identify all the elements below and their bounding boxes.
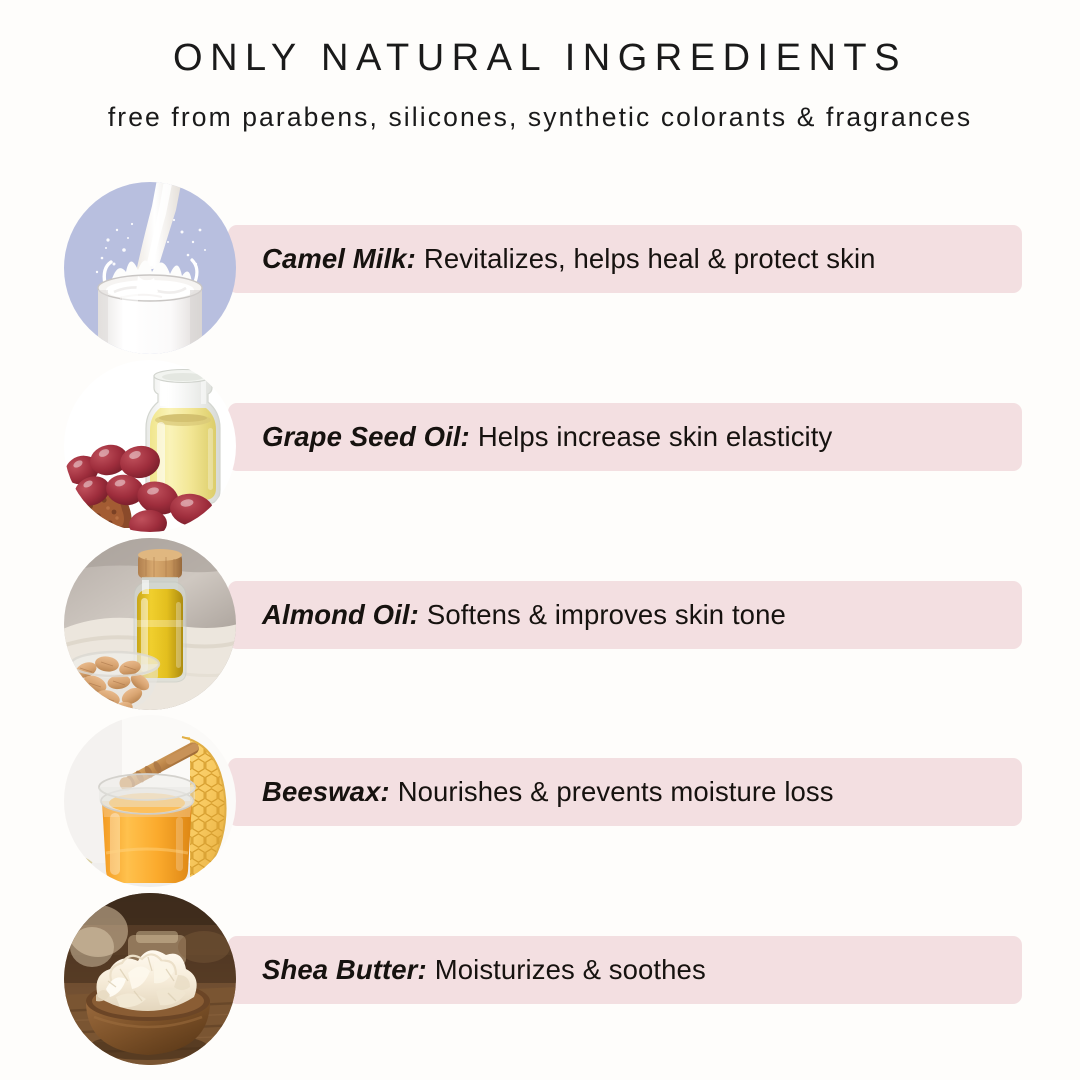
almond-oil-icon xyxy=(62,536,238,712)
milk-pour-jar-icon xyxy=(62,180,238,356)
ingredient-name: Grape Seed Oil: xyxy=(262,421,470,453)
honey-jar-honeycomb-icon xyxy=(62,713,238,889)
ingredient-row: Grape Seed Oil: Helps increase skin elas… xyxy=(0,358,1080,536)
ingredient-benefit: Revitalizes, helps heal & protect skin xyxy=(424,243,876,275)
header: ONLY NATURAL INGREDIENTS free from parab… xyxy=(0,0,1080,136)
ingredient-benefit: Nourishes & prevents moisture loss xyxy=(398,776,834,808)
ingredient-text: Beeswax: Nourishes & prevents moisture l… xyxy=(262,758,834,826)
ingredient-benefit: Helps increase skin elasticity xyxy=(478,421,833,453)
ingredient-name: Beeswax: xyxy=(262,776,390,808)
ingredients-infographic: ONLY NATURAL INGREDIENTS free from parab… xyxy=(0,0,1080,1080)
ingredient-text: Camel Milk: Revitalizes, helps heal & pr… xyxy=(262,225,876,293)
ingredient-text: Almond Oil: Softens & improves skin tone xyxy=(262,581,786,649)
ingredient-row: Shea Butter: Moisturizes & soothes xyxy=(0,891,1080,1069)
ingredient-row: Camel Milk: Revitalizes, helps heal & pr… xyxy=(0,180,1080,358)
page-subtitle: free from parabens, silicones, synthetic… xyxy=(90,80,990,137)
ingredient-row: Beeswax: Nourishes & prevents moisture l… xyxy=(0,713,1080,891)
ingredient-name: Camel Milk: xyxy=(262,243,416,275)
ingredient-row: Almond Oil: Softens & improves skin tone xyxy=(0,536,1080,714)
ingredient-text: Grape Seed Oil: Helps increase skin elas… xyxy=(262,403,832,471)
ingredient-benefit: Softens & improves skin tone xyxy=(427,599,786,631)
ingredient-text: Shea Butter: Moisturizes & soothes xyxy=(262,936,706,1004)
grape-seed-oil-icon xyxy=(62,358,238,534)
ingredient-benefit: Moisturizes & soothes xyxy=(435,954,706,986)
page-title: ONLY NATURAL INGREDIENTS xyxy=(0,0,1080,80)
shea-butter-bowl-icon xyxy=(62,891,238,1067)
ingredient-name: Shea Butter: xyxy=(262,954,427,986)
ingredient-name: Almond Oil: xyxy=(262,599,419,631)
